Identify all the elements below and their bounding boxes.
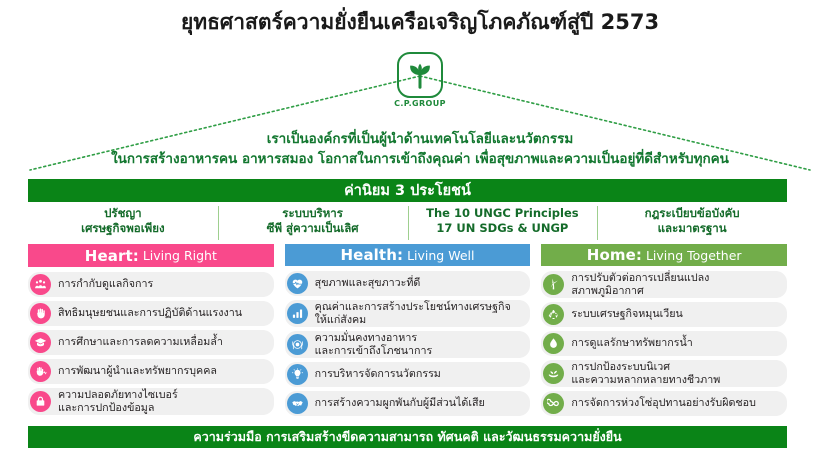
recycle-icon (543, 304, 564, 325)
list-item[interactable]: การบริหารจัดการนวัตกรรม (285, 362, 531, 387)
subpillar-line-1: ปรัชญา (32, 206, 214, 221)
pillar-rows-heart: การกำกับดูแลกิจการสิทธิมนุษยชนและการปฏิบ… (28, 272, 274, 416)
list-item-line-2: ให้แก่สังคม (315, 314, 511, 327)
infinity-icon (543, 393, 564, 414)
pillar-columns: Heart:Living Rightการกำกับดูแลกิจการสิทธ… (28, 244, 787, 416)
list-item-line-1: สุขภาพและสุขภาวะที่ดี (315, 277, 421, 290)
list-item[interactable]: สิทธิมนุษยชนและการปฏิบัติด้านแรงงาน (28, 301, 274, 326)
list-item[interactable]: การสร้างความผูกพันกับผู้มีส่วนได้เสีย (285, 391, 531, 416)
plant-in-hand-icon (543, 363, 564, 384)
tagline: เราเป็นองค์กรที่เป็นผู้นำด้านเทคโนโลยีแล… (40, 130, 800, 169)
tagline-line-2: ในการสร้างอาหารคน อาหารสมอง โอกาสในการเข… (40, 150, 800, 170)
leaf-svg (405, 60, 435, 90)
subpillar-line-2: ซีพี สู่ความเป็นเลิศ (222, 221, 404, 236)
leadership-pulse-icon (30, 361, 51, 382)
pillar-subtitle: Living Together (646, 248, 742, 263)
bar-chart-icon (287, 303, 308, 324)
lightbulb-gear-icon (287, 364, 308, 385)
list-item-line-1: การปกป้องระบบนิเวศ (571, 361, 720, 374)
list-item[interactable]: การพัฒนาผู้นำและทรัพยากรบุคคล (28, 359, 274, 384)
subpillar-2: ระบบบริหารซีพี สู่ความเป็นเลิศ (218, 206, 408, 240)
list-item-line-1: การศึกษาและการลดความเหลื่อมล้ำ (58, 336, 223, 349)
list-item-line-1: การสร้างความผูกพันกับผู้มีส่วนได้เสีย (315, 397, 485, 410)
list-item-line-1: สิทธิมนุษยชนและการปฏิบัติด้านแรงงาน (58, 307, 242, 320)
subpillar-line-2: และมาตรฐาน (601, 221, 783, 236)
pillar-header-home: Home:Living Together (541, 244, 787, 266)
subpillar-3: The 10 UNGC Principles17 UN SDGs & UNGP (408, 206, 598, 240)
list-item-line-1: การปรับตัวต่อการเปลี่ยนแปลง (571, 272, 709, 285)
list-item-line-2: สภาพภูมิอากาศ (571, 285, 709, 298)
subpillar-4: กฎระเบียบข้อบังคับและมาตรฐาน (597, 206, 787, 240)
list-item[interactable]: ความปลอดภัยทางไซเบอร์และการปกป้องข้อมูล (28, 388, 274, 415)
subpillar-row: ปรัชญาเศรษฐกิจพอเพียงระบบบริหารซีพี สู่ค… (28, 206, 787, 240)
list-item-line-1: คุณค่าและการสร้างประโยชน์ทางเศรษฐกิจ (315, 301, 511, 314)
list-item-label: ความปลอดภัยทางไซเบอร์และการปกป้องข้อมูล (58, 389, 182, 414)
list-item[interactable]: การกำกับดูแลกิจการ (28, 272, 274, 297)
list-item[interactable]: การปรับตัวต่อการเปลี่ยนแปลงสภาพภูมิอากาศ (541, 271, 787, 298)
logo-caption: C.P.GROUP (382, 99, 458, 108)
list-item[interactable]: คุณค่าและการสร้างประโยชน์ทางเศรษฐกิจให้แ… (285, 300, 531, 327)
subpillar-line-1: กฎระเบียบข้อบังคับ (601, 206, 783, 221)
subpillar-line-2: 17 UN SDGs & UNGP (412, 221, 594, 236)
handshake-icon (287, 393, 308, 414)
logo-mark (397, 52, 443, 98)
list-item-label: การสร้างความผูกพันกับผู้มีส่วนได้เสีย (315, 397, 489, 410)
pillar-home: Home:Living Togetherการปรับตัวต่อการเปลี… (541, 244, 787, 416)
list-item-label: ความมั่นคงทางอาหารและการเข้าถึงโภชนาการ (315, 332, 437, 357)
pillar-header-heart: Heart:Living Right (28, 244, 274, 267)
subpillar-line-1: ระบบบริหาร (222, 206, 404, 221)
infographic-root: ยุทธศาสตร์ความยั่งยืนเครือเจริญโภคภัณฑ์ส… (0, 0, 840, 457)
list-item-label: การดูแลรักษาทรัพยากรน้ำ (571, 337, 696, 350)
pillar-rows-home: การปรับตัวต่อการเปลี่ยนแปลงสภาพภูมิอากาศ… (541, 271, 787, 416)
wind-turbine-icon (543, 274, 564, 295)
pillar-name: Heart: (85, 247, 139, 265)
list-item-line-1: ระบบเศรษฐกิจหมุนเวียน (571, 308, 683, 321)
graduation-cap-icon (30, 332, 51, 353)
lock-icon (30, 391, 51, 412)
cp-leaf-glyph (399, 54, 441, 96)
subpillar-1: ปรัชญาเศรษฐกิจพอเพียง (28, 206, 218, 240)
cp-group-logo: C.P.GROUP (382, 52, 458, 108)
list-item-label: การพัฒนาผู้นำและทรัพยากรบุคคล (58, 365, 221, 378)
list-item-line-1: ความมั่นคงทางอาหาร (315, 332, 433, 345)
people-governance-icon (30, 274, 51, 295)
list-item-label: การจัดการห่วงโซ่อุปทานอย่างรับผิดชอบ (571, 397, 760, 410)
list-item-line-1: การบริหารจัดการนวัตกรรม (315, 368, 441, 381)
pillar-header-health: Health:Living Well (285, 244, 531, 266)
tagline-line-1: เราเป็นองค์กรที่เป็นผู้นำด้านเทคโนโลยีแล… (40, 130, 800, 150)
pillar-rows-health: สุขภาพและสุขภาวะที่ดีคุณค่าและการสร้างปร… (285, 271, 531, 416)
list-item-label: การกำกับดูแลกิจการ (58, 278, 157, 291)
list-item-label: สุขภาพและสุขภาวะที่ดี (315, 277, 425, 290)
list-item[interactable]: การศึกษาและการลดความเหลื่อมล้ำ (28, 330, 274, 355)
list-item-line-2: และการปกป้องข้อมูล (58, 402, 178, 415)
list-item-line-1: การพัฒนาผู้นำและทรัพยากรบุคคล (58, 365, 217, 378)
list-item-label: การปรับตัวต่อการเปลี่ยนแปลงสภาพภูมิอากาศ (571, 272, 713, 297)
list-item[interactable]: ระบบเศรษฐกิจหมุนเวียน (541, 302, 787, 327)
list-item[interactable]: การดูแลรักษาทรัพยากรน้ำ (541, 331, 787, 356)
list-item[interactable]: ความมั่นคงทางอาหารและการเข้าถึงโภชนาการ (285, 331, 531, 358)
pillar-health: Health:Living Wellสุขภาพและสุขภาวะที่ดีค… (285, 244, 531, 416)
subpillar-line-1: The 10 UNGC Principles (412, 206, 594, 221)
list-item-label: คุณค่าและการสร้างประโยชน์ทางเศรษฐกิจให้แ… (315, 301, 515, 326)
list-item-line-1: การจัดการห่วงโซ่อุปทานอย่างรับผิดชอบ (571, 397, 756, 410)
list-item-label: การบริหารจัดการนวัตกรรม (315, 368, 445, 381)
page-title: ยุทธศาสตร์ความยั่งยืนเครือเจริญโภคภัณฑ์ส… (0, 6, 840, 39)
heart-pulse-icon (287, 273, 308, 294)
bottom-bar: ความร่วมมือ การเสริมสร้างขีดความสามารถ ท… (28, 426, 787, 448)
list-item-label: สิทธิมนุษยชนและการปฏิบัติด้านแรงงาน (58, 307, 246, 320)
list-item[interactable]: การจัดการห่วงโซ่อุปทานอย่างรับผิดชอบ (541, 391, 787, 416)
list-item-label: การศึกษาและการลดความเหลื่อมล้ำ (58, 336, 227, 349)
values-bar: ค่านิยม 3 ประโยชน์ (28, 179, 787, 202)
pillar-subtitle: Living Right (143, 248, 217, 263)
list-item-line-2: และการเข้าถึงโภชนาการ (315, 345, 433, 358)
list-item-line-1: การกำกับดูแลกิจการ (58, 278, 153, 291)
list-item[interactable]: การปกป้องระบบนิเวศและความหลากหลายทางชีวภ… (541, 360, 787, 387)
pillar-name: Home: (587, 246, 642, 264)
pillar-subtitle: Living Well (407, 248, 474, 263)
list-item-line-1: การดูแลรักษาทรัพยากรน้ำ (571, 337, 692, 350)
list-item-line-2: และความหลากหลายทางชีวภาพ (571, 374, 720, 387)
list-item-line-1: ความปลอดภัยทางไซเบอร์ (58, 389, 178, 402)
list-item[interactable]: สุขภาพและสุขภาวะที่ดี (285, 271, 531, 296)
list-item-label: การปกป้องระบบนิเวศและความหลากหลายทางชีวภ… (571, 361, 724, 386)
water-drop-icon (543, 333, 564, 354)
pillar-name: Health: (341, 246, 404, 264)
pillar-heart: Heart:Living Rightการกำกับดูแลกิจการสิทธ… (28, 244, 274, 416)
subpillar-line-2: เศรษฐกิจพอเพียง (32, 221, 214, 236)
list-item-label: ระบบเศรษฐกิจหมุนเวียน (571, 308, 687, 321)
raised-hand-icon (30, 303, 51, 324)
food-plate-icon (287, 334, 308, 355)
